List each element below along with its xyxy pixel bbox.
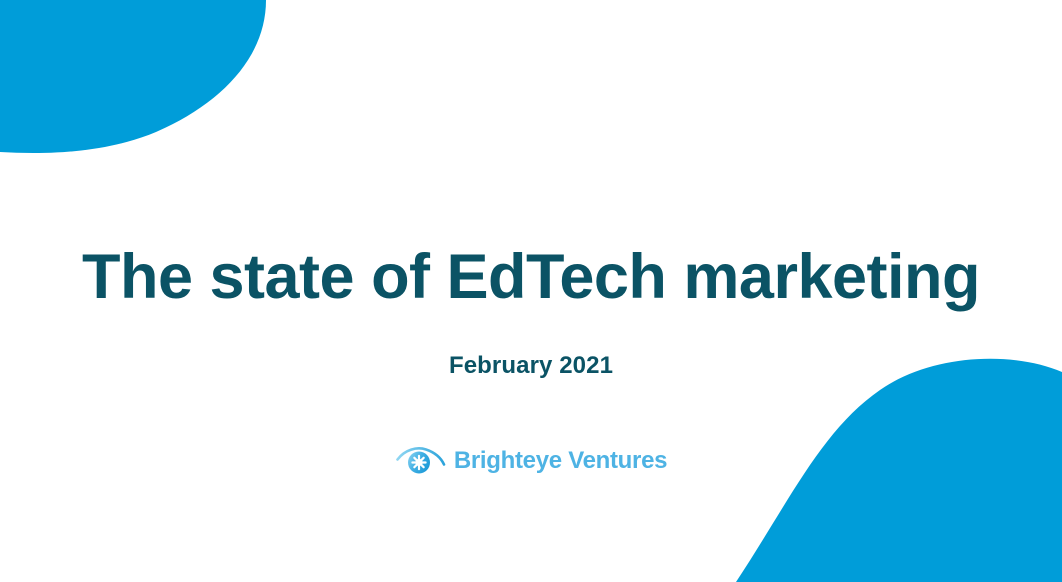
starburst-icon <box>411 455 426 470</box>
logo-inner: Brighteye Ventures <box>395 443 667 479</box>
slide-date-subtitle: February 2021 <box>0 352 1062 380</box>
brand-logo: Brighteye Ventures <box>0 443 1062 479</box>
slide-content: The state of EdTech marketing February 2… <box>0 0 1062 582</box>
eye-icon <box>395 443 447 479</box>
logo-wordmark: Brighteye Ventures <box>454 447 667 475</box>
page-title: The state of EdTech marketing <box>0 244 1062 310</box>
title-slide: The state of EdTech marketing February 2… <box>0 0 1062 582</box>
